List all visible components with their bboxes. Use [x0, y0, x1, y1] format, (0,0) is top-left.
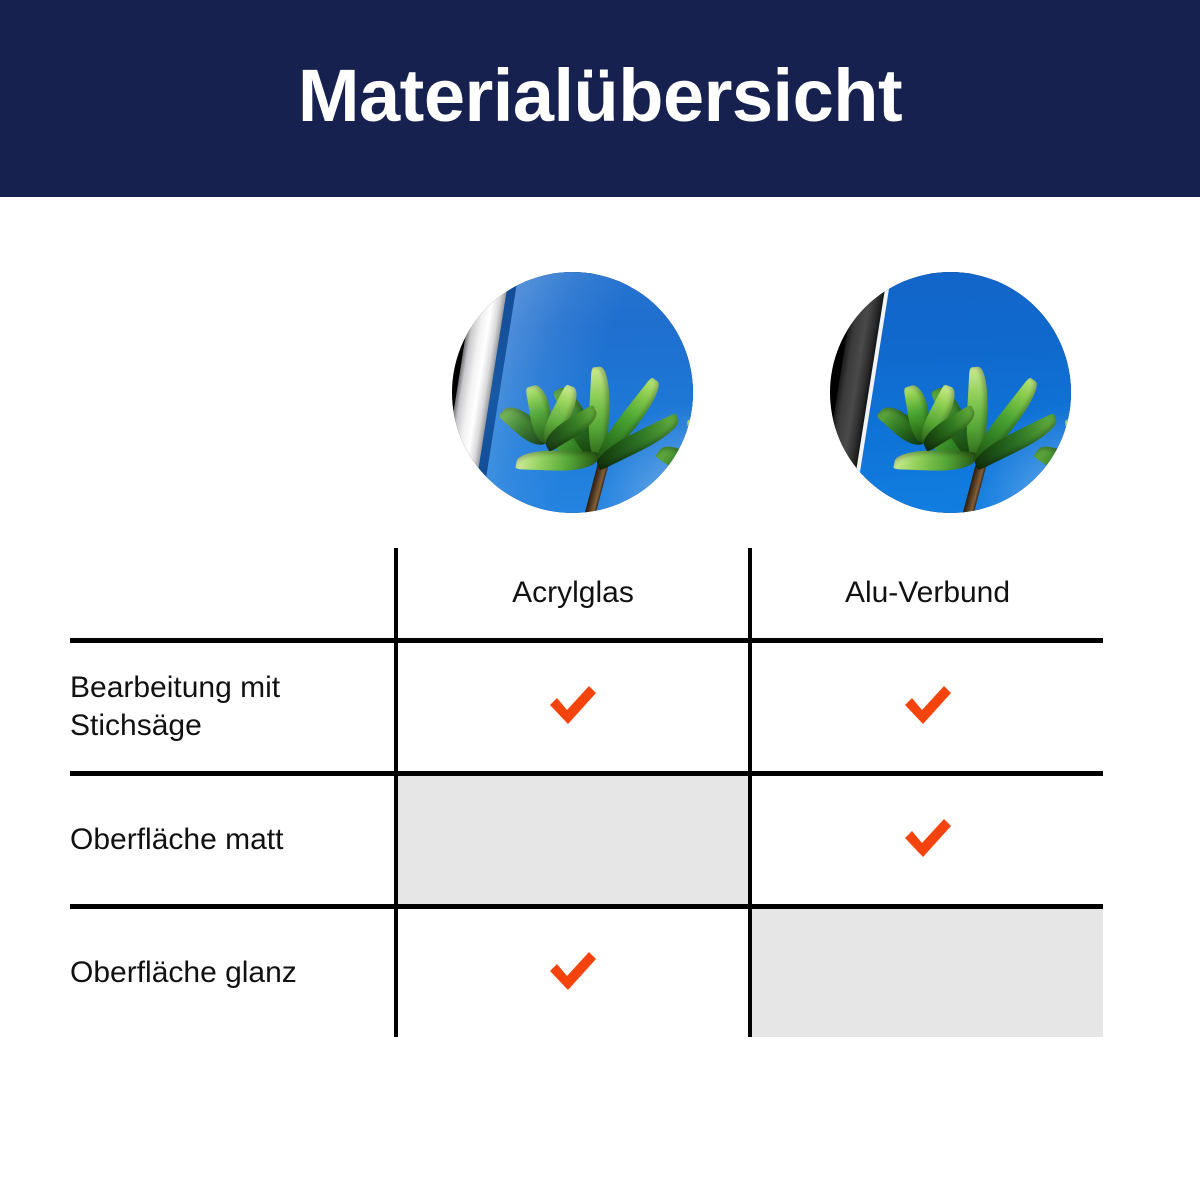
- row-label-bearbeitung-stichsaege: Bearbeitung mit Stichsäge: [70, 641, 396, 774]
- cell-glanz-aluverbund: [750, 907, 1103, 1038]
- row-label-line1: Oberfläche matt: [70, 823, 283, 856]
- page-title: Materialübersicht: [298, 59, 902, 133]
- cell-matt-aluverbund: [750, 774, 1103, 907]
- check-icon: [546, 683, 600, 727]
- header-corner-blank: [70, 548, 396, 641]
- row-label-line1: Bearbeitung mit: [70, 671, 280, 704]
- table-row: Bearbeitung mit Stichsäge: [70, 641, 1103, 774]
- cell-bearbeitung-aluverbund: [750, 641, 1103, 774]
- cell-glanz-acrylglas: [396, 907, 750, 1038]
- row-label-line1: Oberfläche glanz: [70, 956, 297, 989]
- check-icon: [901, 683, 955, 727]
- table-row: Oberfläche glanz: [70, 907, 1103, 1038]
- cell-matt-acrylglas: [396, 774, 750, 907]
- row-label-oberflaeche-matt: Oberfläche matt: [70, 774, 396, 907]
- column-header-aluverbund: Alu-Verbund: [750, 548, 1103, 641]
- row-label-oberflaeche-glanz: Oberfläche glanz: [70, 907, 396, 1038]
- column-header-acrylglas: Acrylglas: [396, 548, 750, 641]
- cell-bearbeitung-acrylglas: [396, 641, 750, 774]
- acrylglas-sample-image: [452, 272, 693, 513]
- material-sample-acrylglas[interactable]: [452, 272, 693, 513]
- table-header-row: Acrylglas Alu-Verbund: [70, 548, 1103, 641]
- table-row: Oberfläche matt: [70, 774, 1103, 907]
- check-icon: [901, 816, 955, 860]
- page-header: Materialübersicht: [0, 0, 1200, 197]
- material-sample-row: [0, 272, 1200, 514]
- material-comparison-table: Acrylglas Alu-Verbund Bearbeitung mit St…: [70, 548, 1103, 1037]
- material-sample-aluverbund[interactable]: [830, 272, 1071, 513]
- check-icon: [546, 949, 600, 993]
- row-label-line2: Stichsäge: [70, 709, 202, 742]
- aluverbund-sample-image: [830, 272, 1071, 513]
